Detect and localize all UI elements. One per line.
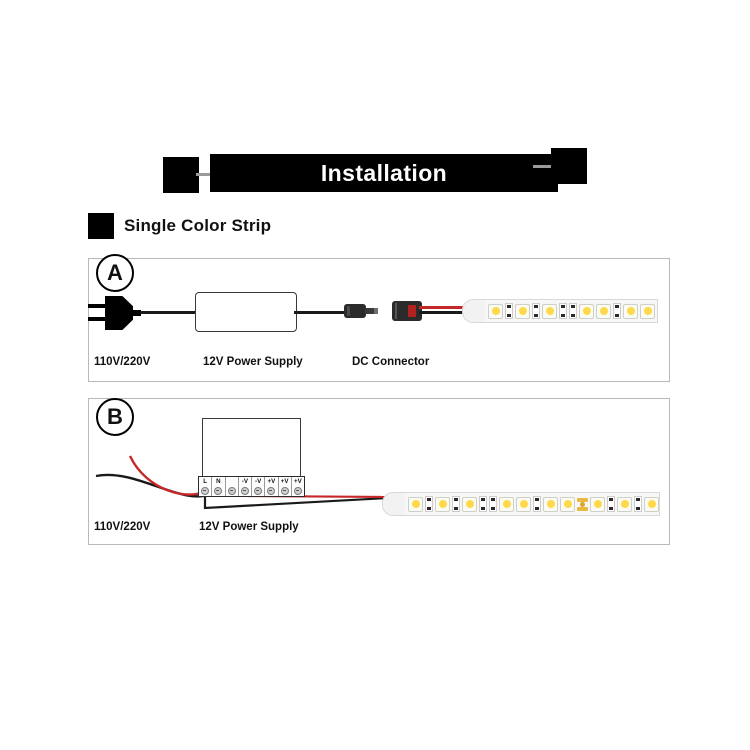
led-chip (644, 497, 659, 512)
led-strip-board (485, 299, 658, 323)
led-chip (542, 304, 557, 319)
led-strip-panel-a (462, 299, 658, 323)
terminal-label: +V (281, 479, 289, 485)
panel-a-power-supply (195, 292, 297, 332)
banner-title-bar: Installation (210, 154, 558, 192)
led-emitter (621, 500, 629, 508)
led-emitter (594, 500, 602, 508)
led-chip (623, 304, 638, 319)
dc-plug-male-icon (344, 304, 378, 318)
led-chip (590, 497, 605, 512)
resistor-chip (533, 496, 541, 512)
led-emitter (627, 307, 635, 315)
terminal-label: -V (255, 479, 261, 485)
terminal-minusV-3: -V (239, 477, 252, 496)
led-chip (543, 497, 558, 512)
dc-jack-female-icon (392, 301, 422, 321)
installation-diagram: Installation Single Color Strip A 110V/2… (0, 0, 750, 750)
led-emitter (519, 307, 527, 315)
panel-a-supply-label: 12V Power Supply (203, 356, 303, 368)
led-chip (488, 304, 503, 319)
plug-prong-top (88, 304, 106, 308)
led-emitter (583, 307, 591, 315)
dc-lead-black-wire (419, 311, 465, 314)
plug-prong-bottom (88, 317, 106, 321)
led-emitter (412, 500, 420, 508)
led-emitter (492, 307, 500, 315)
panel-a-input-label: 110V/220V (94, 356, 150, 368)
terminal-label: +V (268, 479, 276, 485)
terminal-screw (267, 487, 275, 495)
led-strip-end-cap (462, 299, 485, 323)
led-chip (515, 304, 530, 319)
led-emitter (564, 500, 572, 508)
panel-b-negative-wire (205, 497, 388, 508)
terminal-screw (201, 487, 209, 495)
terminal-plusV-5: +V (265, 477, 278, 496)
led-emitter (439, 500, 447, 508)
resistor-chip (613, 303, 621, 319)
strip-cut-pad (657, 305, 658, 318)
dc-lead-red-wire (419, 306, 465, 309)
terminal-plusV-6: +V (279, 477, 292, 496)
led-chip (640, 304, 655, 319)
terminal-N-1: N (212, 477, 225, 496)
section-heading-label: Single Color Strip (124, 216, 271, 236)
led-chip (596, 304, 611, 319)
led-strip-panel-b (382, 492, 660, 516)
panel-b-supply-label: 12V Power Supply (199, 521, 299, 533)
led-strip-board (405, 492, 660, 516)
terminal-blank-2 (226, 477, 239, 496)
resistor-chip (532, 303, 540, 319)
ac-power-plug-icon (88, 296, 148, 330)
resistor-chip (452, 496, 460, 512)
resistor-chip (607, 496, 615, 512)
dc-jack-ridge (395, 303, 397, 319)
terminal-screw (228, 487, 236, 495)
dc-jack-leads (419, 306, 465, 316)
resistor-chip (505, 303, 513, 319)
terminal-screw (254, 487, 262, 495)
plug-body (105, 296, 133, 330)
strip-cut-pad (577, 498, 588, 511)
terminal-plusV-7: +V (292, 477, 304, 496)
terminal-L-0: L (199, 477, 212, 496)
terminal-label: -V (242, 479, 248, 485)
resistor-chip (634, 496, 642, 512)
led-chip (617, 497, 632, 512)
dc-plug-grip (344, 304, 366, 318)
led-emitter (600, 307, 608, 315)
panel-a-connector-label: DC Connector (352, 356, 429, 368)
banner-left-block (163, 157, 199, 193)
led-emitter (644, 307, 652, 315)
led-chip (579, 304, 594, 319)
led-emitter (547, 500, 555, 508)
terminal-minusV-4: -V (252, 477, 265, 496)
resistor-chip (569, 303, 577, 319)
led-chip (408, 497, 423, 512)
panel-a-badge: A (96, 254, 134, 292)
panel-a-input-wire (140, 311, 196, 314)
page-title: Installation (321, 160, 447, 187)
section-bullet-swatch (88, 213, 114, 239)
resistor-chip (479, 496, 487, 512)
led-emitter (520, 500, 528, 508)
installation-banner: Installation (163, 148, 587, 196)
panel-b-terminal-block: LN-V-V+V+V+V (198, 476, 305, 497)
panel-b-badge: B (96, 398, 134, 436)
led-chip (516, 497, 531, 512)
led-emitter (546, 307, 554, 315)
terminal-screw (294, 487, 302, 495)
led-emitter (466, 500, 474, 508)
panel-b-live-wire (130, 456, 208, 495)
panel-b-input-label: 110V/220V (94, 521, 150, 533)
banner-right-block (551, 148, 587, 184)
section-heading: Single Color Strip (88, 213, 271, 239)
led-chip (499, 497, 514, 512)
resistor-chip (559, 303, 567, 319)
panel-b-wiring (88, 398, 668, 543)
led-emitter (648, 500, 656, 508)
panel-a-output-wire (294, 311, 346, 314)
dc-jack-slot (408, 305, 416, 317)
resistor-chip (489, 496, 497, 512)
led-emitter (503, 500, 511, 508)
terminal-label: L (203, 479, 207, 485)
led-chip (462, 497, 477, 512)
dc-plug-pin (365, 308, 378, 314)
terminal-screw (214, 487, 222, 495)
resistor-chip (425, 496, 433, 512)
terminal-label: +V (294, 479, 302, 485)
led-strip-end-cap (382, 492, 405, 516)
terminal-screw (281, 487, 289, 495)
led-chip (435, 497, 450, 512)
terminal-screw (241, 487, 249, 495)
terminal-label: N (216, 479, 220, 485)
led-chip (560, 497, 575, 512)
